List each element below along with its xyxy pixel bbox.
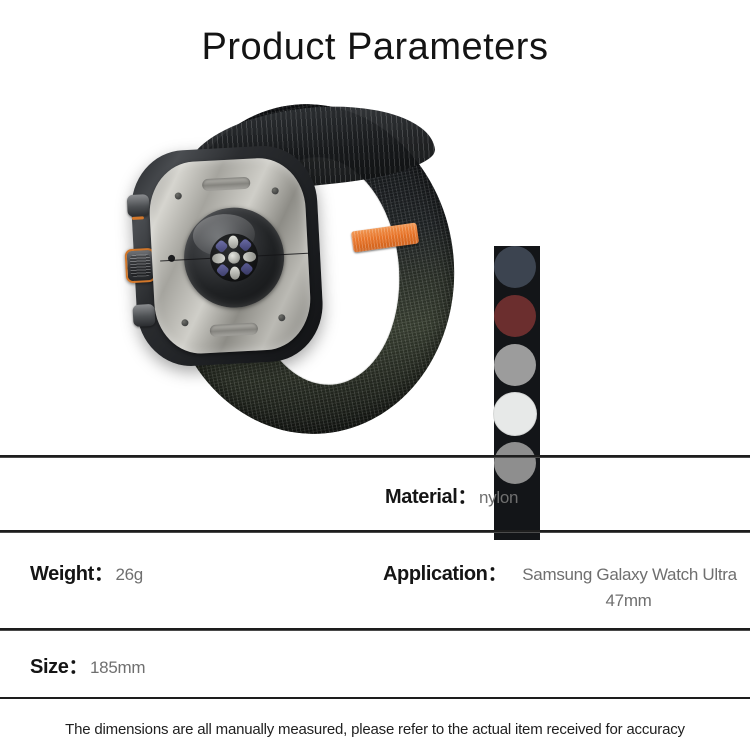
spec-cell-application: Application： Samsung Galaxy Watch Ultra …: [375, 557, 750, 614]
charging-contact-bottom: [210, 322, 259, 336]
spec-value-material: nylon: [479, 488, 518, 508]
spec-cell-size: Size： 185mm: [0, 650, 375, 679]
side-button-upper: [127, 194, 150, 217]
sensor-photodiode-se: [240, 262, 254, 276]
side-button-lower: [132, 304, 155, 327]
product-image: [128, 96, 468, 446]
color-swatch-dark-maroon[interactable]: [494, 344, 536, 386]
spec-value-application: Samsung Galaxy Watch Ultra 47mm: [522, 565, 737, 610]
charging-contact-top: [202, 177, 251, 191]
spec-cell-weight: Weight： 26g: [0, 557, 375, 586]
sensor-led-center: [228, 251, 241, 264]
sensor-photodiode-nw: [214, 239, 228, 253]
color-swatch-black[interactable]: [494, 246, 536, 288]
table-row-material: Material： nylon: [0, 458, 750, 530]
sensor-led-north: [228, 235, 239, 249]
table-row-size: Size： 185mm: [0, 631, 750, 697]
spec-label-application: Application：: [383, 557, 507, 586]
case-screw: [175, 192, 182, 199]
spec-value-weight: 26g: [116, 565, 143, 585]
sensor-led-east: [243, 251, 257, 262]
spec-cell-material: Material： nylon: [375, 480, 750, 509]
table-row-weight-application: Weight： 26g Application： Samsung Galaxy …: [0, 533, 750, 628]
footer-disclaimer: The dimensions are all manually measured…: [0, 699, 750, 738]
titanium-back-plate: [147, 156, 313, 356]
product-hero: [0, 96, 750, 452]
color-swatch-medium-gray[interactable]: [494, 393, 536, 435]
page-title: Product Parameters: [0, 26, 750, 69]
sensor-led-cluster: [209, 232, 259, 282]
spec-label-material: Material：: [385, 480, 477, 509]
watch-case: [128, 143, 325, 368]
spec-table: Material： nylon Weight： 26g Application：…: [0, 455, 750, 738]
quick-button-accent: [132, 216, 144, 220]
case-screw: [181, 319, 188, 326]
spec-label-size: Size：: [30, 650, 88, 679]
color-swatch-dark-slate-blue[interactable]: [494, 295, 536, 337]
sensor-photodiode-ne: [238, 238, 252, 252]
sensor-led-west: [212, 253, 226, 264]
biometric-sensor-glass: [182, 205, 287, 310]
sensor-photodiode-sw: [216, 263, 230, 277]
spec-value-size: 185mm: [90, 658, 145, 678]
sensor-led-south: [230, 266, 241, 280]
spec-label-weight: Weight：: [30, 557, 114, 586]
case-screw: [278, 314, 285, 321]
case-screw: [271, 187, 278, 194]
